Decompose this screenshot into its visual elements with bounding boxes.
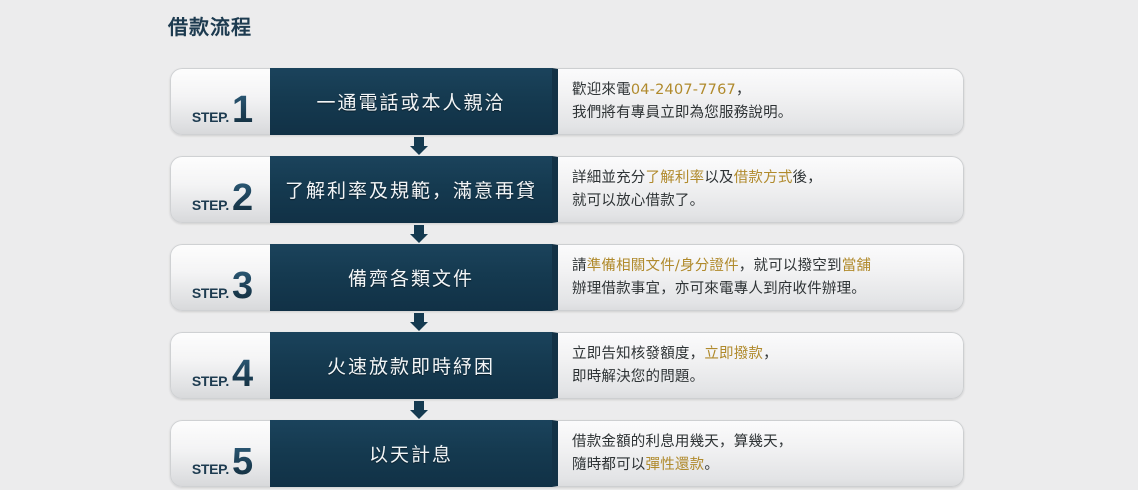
plain-text: ，	[763, 346, 778, 362]
step-badge-number: 3	[232, 270, 253, 302]
step-badge: STEP.2	[170, 156, 270, 223]
plain-text: 立即告知核發額度，	[572, 346, 704, 362]
step-badge-number: 4	[232, 358, 253, 390]
step-description-line: 辦理借款事宜，亦可來電專人到府收件辦理。	[572, 278, 963, 301]
arrow-head	[410, 410, 428, 419]
step-row[interactable]: STEP.1一通電話或本人親洽歡迎來電04-2407-7767，我們將有專員立即…	[170, 68, 964, 135]
plain-text: 請	[572, 258, 587, 274]
highlighted-text: 立即撥款	[704, 346, 763, 362]
step-badge-word: STEP.	[192, 109, 229, 125]
plain-text: 借款金額的利息用幾天，算幾天，	[572, 434, 793, 450]
step-badge-inner: STEP.1	[192, 94, 253, 126]
process-step-list: STEP.1一通電話或本人親洽歡迎來電04-2407-7767，我們將有專員立即…	[170, 68, 964, 487]
step-title: 一通電話或本人親洽	[270, 68, 552, 135]
step-description-line: 我們將有專員立即為您服務說明。	[572, 102, 963, 125]
highlighted-text: 了解利率	[646, 170, 705, 186]
step-badge: STEP.1	[170, 68, 270, 135]
highlighted-text: 彈性還款	[646, 457, 705, 473]
step-connector	[170, 311, 964, 332]
step-description-line: 就可以放心借款了。	[572, 190, 963, 213]
page-title: 借款流程	[168, 13, 252, 41]
plain-text: 即時解決您的問題。	[572, 369, 704, 385]
step-connector	[170, 135, 964, 156]
plain-text: 後，	[793, 170, 822, 186]
step-title: 了解利率及規範，滿意再貸	[270, 156, 552, 223]
step-badge: STEP.3	[170, 244, 270, 311]
plain-text: 我們將有專員立即為您服務說明。	[572, 105, 793, 121]
highlighted-text: 準備相關文件/身分證件	[587, 258, 739, 274]
step-description-line: 歡迎來電04-2407-7767，	[572, 79, 963, 102]
plain-text: ，就可以撥空到	[739, 258, 842, 274]
step-badge-word: STEP.	[192, 373, 229, 389]
highlighted-text: 04-2407-7767	[631, 82, 736, 98]
step-description: 歡迎來電04-2407-7767，我們將有專員立即為您服務說明。	[552, 68, 964, 135]
plain-text: 隨時都可以	[572, 457, 646, 473]
step-badge: STEP.4	[170, 332, 270, 399]
plain-text: ，	[736, 82, 751, 98]
step-title: 備齊各類文件	[270, 244, 552, 311]
step-row[interactable]: STEP.4火速放款即時紓困立即告知核發額度，立即撥款，即時解決您的問題。	[170, 332, 964, 399]
step-description-line: 即時解決您的問題。	[572, 366, 963, 389]
step-badge-number: 2	[232, 182, 253, 214]
step-description-line: 立即告知核發額度，立即撥款，	[572, 343, 963, 366]
loan-process-page: 借款流程 STEP.1一通電話或本人親洽歡迎來電04-2407-7767，我們將…	[0, 0, 1138, 490]
step-title: 火速放款即時紓困	[270, 332, 552, 399]
step-row[interactable]: STEP.2了解利率及規範，滿意再貸詳細並充分了解利率以及借款方式後，就可以放心…	[170, 156, 964, 223]
plain-text: 歡迎來電	[572, 82, 631, 98]
process-step: STEP.1一通電話或本人親洽歡迎來電04-2407-7767，我們將有專員立即…	[170, 68, 964, 135]
step-description: 立即告知核發額度，立即撥款，即時解決您的問題。	[552, 332, 964, 399]
step-description: 借款金額的利息用幾天，算幾天，隨時都可以彈性還款。	[552, 420, 964, 487]
step-badge-number: 1	[232, 94, 253, 126]
step-description-line: 詳細並充分了解利率以及借款方式後，	[572, 167, 963, 190]
step-badge-word: STEP.	[192, 197, 229, 213]
step-badge-inner: STEP.2	[192, 182, 253, 214]
plain-text: 詳細並充分	[572, 170, 646, 186]
step-badge-inner: STEP.5	[192, 446, 253, 478]
step-description-line: 請準備相關文件/身分證件，就可以撥空到當舖	[572, 255, 963, 278]
arrow-head	[410, 322, 428, 331]
arrow-head	[410, 146, 428, 155]
step-row[interactable]: STEP.5以天計息借款金額的利息用幾天，算幾天，隨時都可以彈性還款。	[170, 420, 964, 487]
step-description: 請準備相關文件/身分證件，就可以撥空到當舖辦理借款事宜，亦可來電專人到府收件辦理…	[552, 244, 964, 311]
arrow-head	[410, 234, 428, 243]
step-badge-word: STEP.	[192, 461, 229, 477]
process-step: STEP.2了解利率及規範，滿意再貸詳細並充分了解利率以及借款方式後，就可以放心…	[170, 156, 964, 223]
step-badge-inner: STEP.4	[192, 358, 253, 390]
step-description-line: 借款金額的利息用幾天，算幾天，	[572, 431, 963, 454]
step-badge-inner: STEP.3	[192, 270, 253, 302]
step-badge-word: STEP.	[192, 285, 229, 301]
plain-text: 以及	[704, 170, 733, 186]
highlighted-text: 當舖	[842, 258, 871, 274]
plain-text: 辦理借款事宜，亦可來電專人到府收件辦理。	[572, 281, 866, 297]
step-description: 詳細並充分了解利率以及借款方式後，就可以放心借款了。	[552, 156, 964, 223]
plain-text: 就可以放心借款了。	[572, 193, 704, 209]
step-title: 以天計息	[270, 420, 552, 487]
step-connector	[170, 223, 964, 244]
process-step: STEP.3備齊各類文件請準備相關文件/身分證件，就可以撥空到當舖辦理借款事宜，…	[170, 244, 964, 311]
process-step: STEP.4火速放款即時紓困立即告知核發額度，立即撥款，即時解決您的問題。	[170, 332, 964, 399]
step-connector	[170, 399, 964, 420]
highlighted-text: 借款方式	[734, 170, 793, 186]
step-row[interactable]: STEP.3備齊各類文件請準備相關文件/身分證件，就可以撥空到當舖辦理借款事宜，…	[170, 244, 964, 311]
process-step: STEP.5以天計息借款金額的利息用幾天，算幾天，隨時都可以彈性還款。	[170, 420, 964, 487]
step-badge-number: 5	[232, 446, 253, 478]
step-badge: STEP.5	[170, 420, 270, 487]
step-description-line: 隨時都可以彈性還款。	[572, 454, 963, 477]
plain-text: 。	[704, 457, 719, 473]
